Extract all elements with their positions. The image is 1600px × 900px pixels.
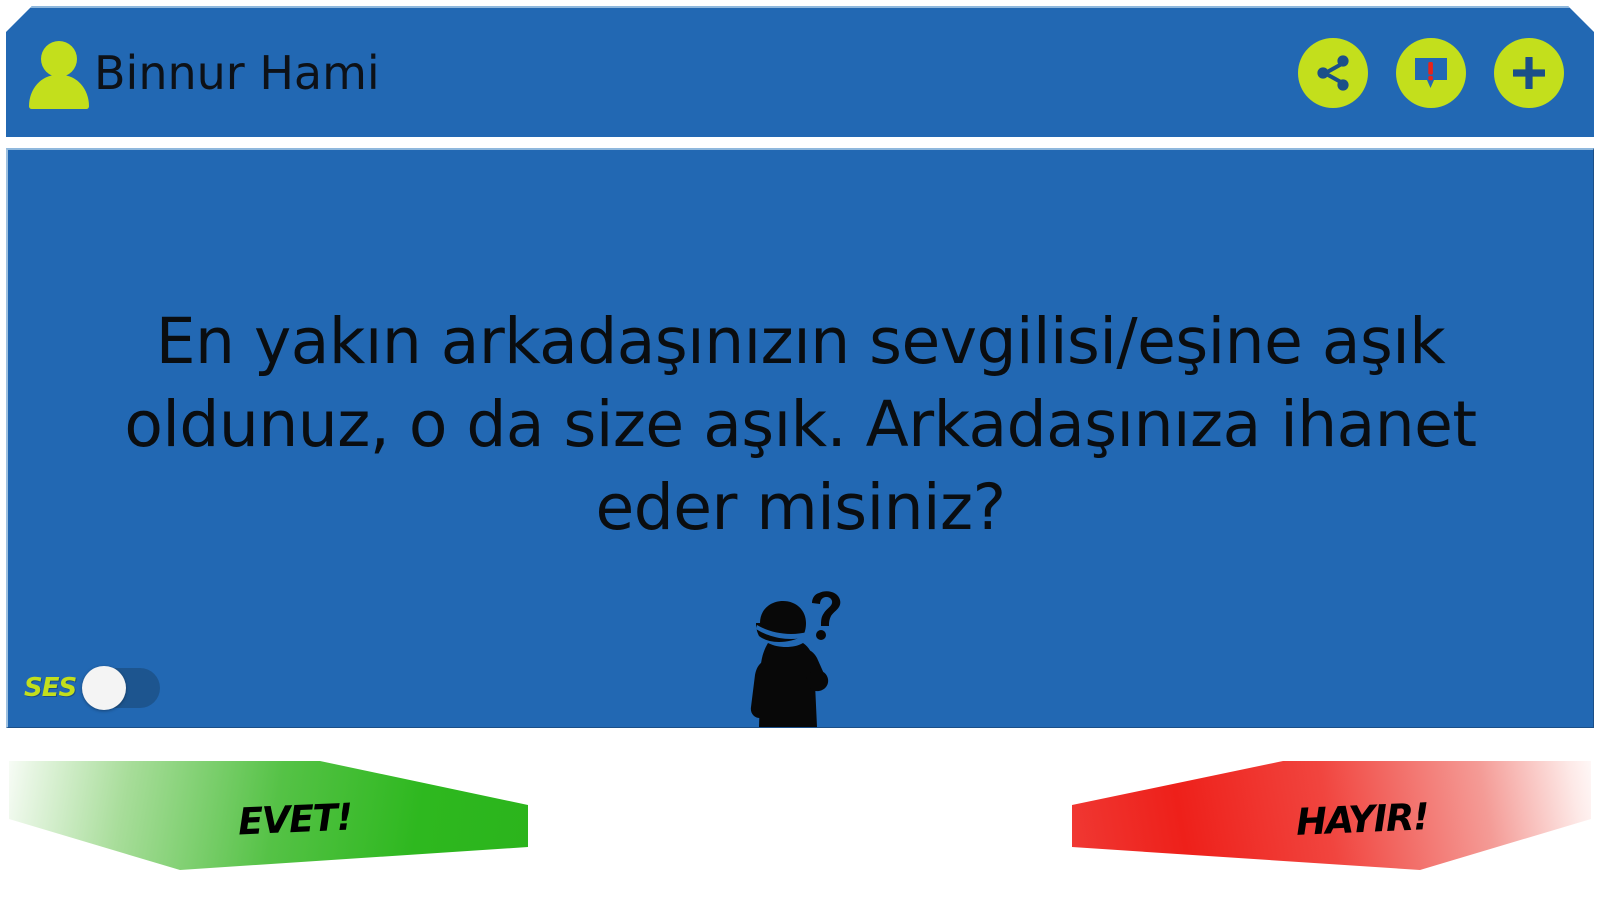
person-icon-head [41,41,77,77]
sound-toggle[interactable]: SES [24,665,160,711]
sound-toggle-track[interactable] [82,668,160,708]
no-button[interactable]: HAYIR! [1055,745,1600,880]
person-icon [28,37,90,109]
yes-button[interactable]: EVET! [0,745,530,880]
person-icon-body [29,75,89,109]
question-text: En yakın arkadaşınızın sevgilisi/eşine a… [68,300,1533,549]
share-icon [1311,51,1355,95]
thinking-person-icon [716,587,886,727]
plus-icon [1507,51,1551,95]
add-button[interactable] [1494,38,1564,108]
sound-toggle-knob[interactable] [82,666,126,710]
header-actions [1298,38,1594,108]
app-root: Binnur Hami [0,0,1600,900]
report-button[interactable] [1396,38,1466,108]
question-panel: En yakın arkadaşınızın sevgilisi/eşine a… [6,148,1594,728]
no-button-label: HAYIR! [1295,795,1429,844]
share-button[interactable] [1298,38,1368,108]
profile-area[interactable]: Binnur Hami [6,37,1298,109]
header-bar: Binnur Hami [6,6,1594,137]
yes-button-label: EVET! [237,796,353,844]
page-title: Binnur Hami [94,46,380,100]
speech-bubble-alert-icon [1408,51,1454,95]
sound-toggle-label: SES [24,673,76,703]
